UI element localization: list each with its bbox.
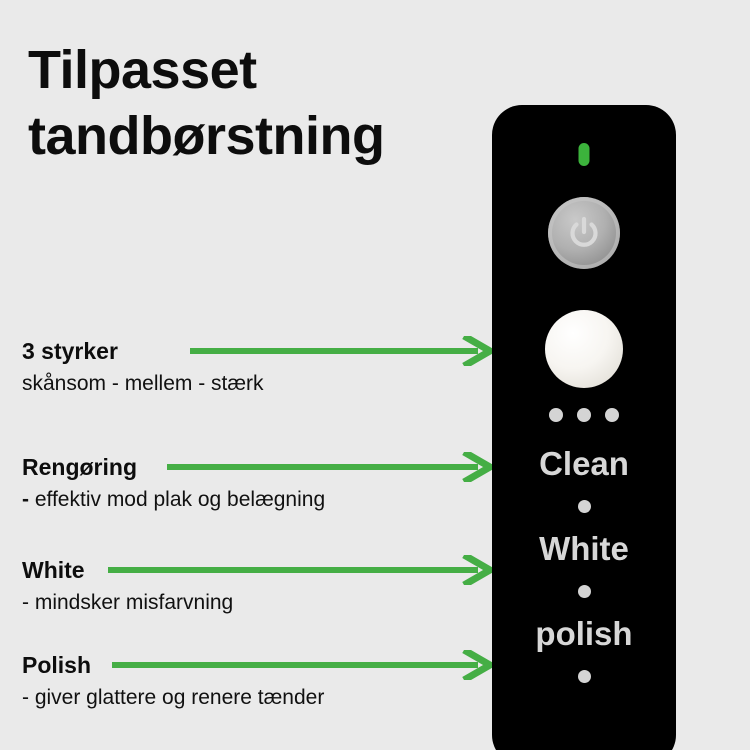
feature-label: White (22, 555, 85, 585)
feature-head: White (22, 555, 492, 585)
feature-subtitle-text: effektiv mod plak og belægning (29, 488, 325, 511)
feature-head: 3 styrker (22, 336, 492, 366)
infographic-canvas: Tilpasset tandbørstning 3 styrker skånso… (0, 0, 750, 750)
feature-label: Rengøring (22, 452, 137, 482)
feature-subtitle: - mindsker misfarvning (22, 590, 492, 616)
mode-separator-dot (578, 500, 591, 513)
power-led-icon (579, 143, 590, 166)
feature-subtitle: - effektiv mod plak og belægning (22, 487, 492, 513)
toothbrush-device: Clean White polish (492, 105, 676, 750)
mode-label-clean: Clean (492, 447, 676, 480)
feature-label: 3 styrker (22, 336, 118, 366)
feature-row-rengoring: Rengøring - effektiv mod plak og belægni… (22, 452, 492, 513)
intensity-dot (605, 408, 619, 422)
power-button[interactable] (548, 197, 620, 269)
feature-subtitle-text: skånsom - mellem - stærk (22, 372, 264, 395)
feature-head: Rengøring (22, 452, 492, 482)
right-arrow-icon (167, 452, 472, 482)
page-title-line-2: tandbørstning (28, 104, 478, 170)
page-title-line-1: Tilpasset (28, 38, 478, 104)
right-arrow-icon (112, 650, 472, 680)
feature-row-polish: Polish - giver glattere og renere tænder (22, 650, 492, 711)
feature-dash: - (22, 488, 29, 511)
mode-separator-dot (578, 670, 591, 683)
power-icon (564, 213, 604, 253)
right-arrow-icon (190, 336, 472, 366)
mode-label-white: White (492, 532, 676, 565)
feature-label: Polish (22, 650, 91, 680)
mode-label-polish: polish (492, 617, 676, 650)
feature-head: Polish (22, 650, 492, 680)
intensity-level-indicator (549, 408, 619, 422)
right-arrow-icon (108, 555, 472, 585)
intensity-dot (577, 408, 591, 422)
mode-separator-dot (578, 585, 591, 598)
feature-row-white: White - mindsker misfarvning (22, 555, 492, 616)
feature-subtitle: skånsom - mellem - stærk (22, 371, 492, 397)
feature-subtitle-text: - mindsker misfarvning (22, 591, 233, 614)
page-title: Tilpasset tandbørstning (28, 38, 478, 170)
intensity-dot (549, 408, 563, 422)
feature-subtitle: - giver glattere og renere tænder (22, 685, 492, 711)
feature-row-styrker: 3 styrker skånsom - mellem - stærk (22, 336, 492, 397)
feature-subtitle-text: - giver glattere og renere tænder (22, 686, 324, 709)
mode-select-button[interactable] (545, 310, 623, 388)
mode-label-list: Clean White polish (492, 447, 676, 702)
